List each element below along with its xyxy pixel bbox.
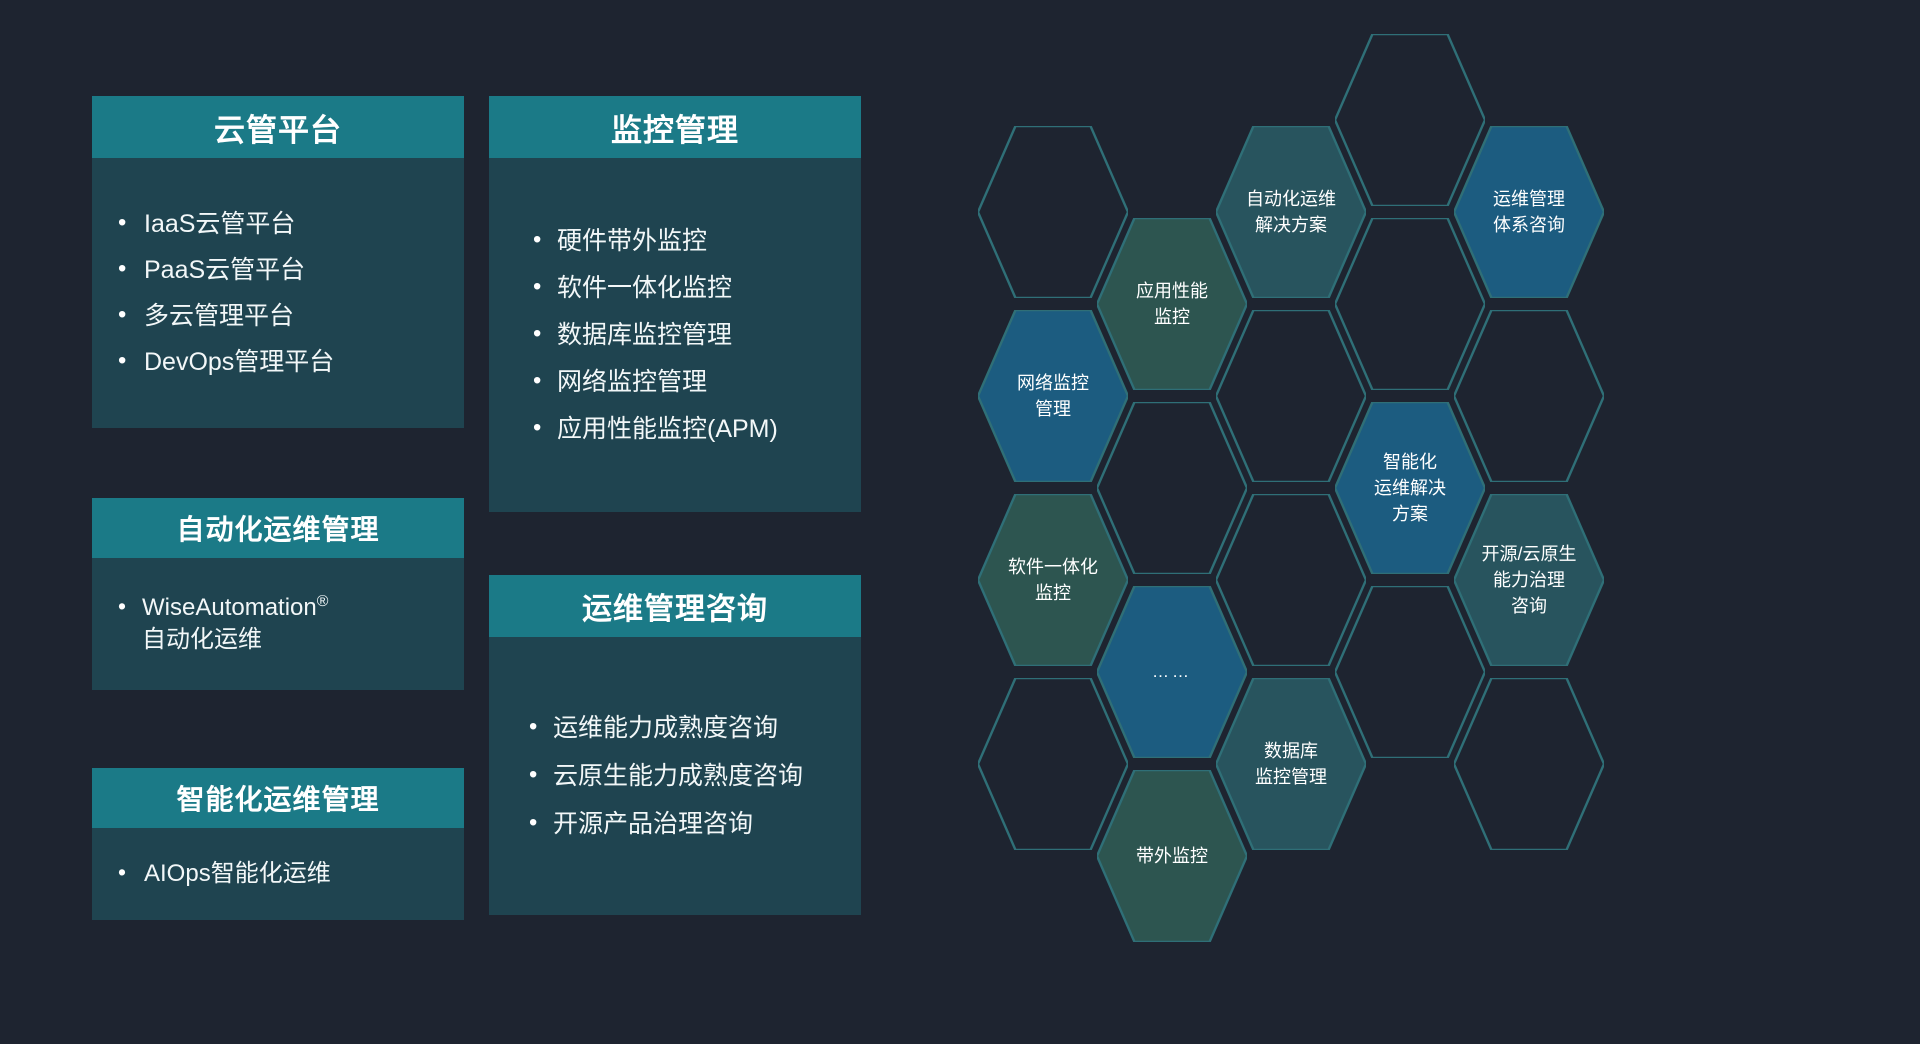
card-body: AIOps智能化运维 (92, 828, 464, 920)
hex-empty-j (1454, 678, 1604, 850)
list-item: IaaS云管平台 (114, 208, 442, 241)
registered-mark-icon: ® (317, 593, 329, 610)
list-item: 云原生能力成熟度咨询 (525, 760, 839, 793)
list-item: AIOps智能化运维 (114, 858, 442, 890)
hexagon-shape (1454, 126, 1604, 298)
card-automation-ops-management[interactable]: 自动化运维管理 WiseAutomation®自动化运维 (92, 498, 464, 690)
card-item-list: IaaS云管平台 PaaS云管平台 多云管理平台 DevOps管理平台 (114, 195, 442, 392)
card-ops-management-consulting[interactable]: 运维管理咨询 运维能力成熟度咨询 云原生能力成熟度咨询 开源产品治理咨询 (489, 575, 861, 915)
card-body: IaaS云管平台 PaaS云管平台 多云管理平台 DevOps管理平台 (92, 158, 464, 428)
card-item-list: AIOps智能化运维 (114, 858, 442, 890)
list-item: 数据库监控管理 (529, 319, 839, 352)
hexagon-shape (1454, 310, 1604, 482)
service-cards-panel: 云管平台 IaaS云管平台 PaaS云管平台 多云管理平台 DevOps管理平台… (0, 0, 900, 1044)
card-body: 硬件带外监控 软件一体化监控 数据库监控管理 网络监控管理 应用性能监控(APM… (489, 158, 861, 512)
hexagon-grid: 网络监控管理软件一体化监控应用性能监控……带外监控自动化运维解决方案数据库监控管… (930, 0, 1920, 1044)
card-intelligent-ops-management[interactable]: 智能化运维管理 AIOps智能化运维 (92, 768, 464, 920)
card-title: 自动化运维管理 (92, 498, 464, 558)
list-item: 多云管理平台 (114, 300, 442, 333)
card-title: 运维管理咨询 (489, 575, 861, 637)
card-title: 监控管理 (489, 96, 861, 158)
list-item: 运维能力成熟度咨询 (525, 712, 839, 745)
card-item-list: 运维能力成熟度咨询 云原生能力成熟度咨询 开源产品治理咨询 (525, 697, 839, 856)
list-item: WiseAutomation®自动化运维 (114, 592, 442, 655)
card-cloud-platform[interactable]: 云管平台 IaaS云管平台 PaaS云管平台 多云管理平台 DevOps管理平台 (92, 96, 464, 428)
list-item: PaaS云管平台 (114, 254, 442, 287)
slide-root: 云管平台 IaaS云管平台 PaaS云管平台 多云管理平台 DevOps管理平台… (0, 0, 1920, 1044)
list-item: 软件一体化监控 (529, 272, 839, 305)
card-item-list: 硬件带外监控 软件一体化监控 数据库监控管理 网络监控管理 应用性能监控(APM… (529, 211, 839, 460)
list-item: 应用性能监控(APM) (529, 413, 839, 446)
hex-empty-i (1454, 310, 1604, 482)
card-title: 智能化运维管理 (92, 768, 464, 828)
hex-ops-system-consult[interactable]: 运维管理体系咨询 (1454, 126, 1604, 298)
hex-opensource-consult[interactable]: 开源/云原生能力治理咨询 (1454, 494, 1604, 666)
list-item: 开源产品治理咨询 (525, 808, 839, 841)
brand-name: WiseAutomation (142, 594, 317, 621)
card-title: 云管平台 (92, 96, 464, 158)
card-body: 运维能力成熟度咨询 云原生能力成熟度咨询 开源产品治理咨询 (489, 637, 861, 915)
list-item: DevOps管理平台 (114, 346, 442, 379)
list-item: 硬件带外监控 (529, 225, 839, 258)
list-item: 网络监控管理 (529, 366, 839, 399)
card-item-list: WiseAutomation®自动化运维 (114, 592, 442, 655)
item-tail: 自动化运维 (142, 626, 262, 653)
card-body: WiseAutomation®自动化运维 (92, 558, 464, 690)
card-monitoring-management[interactable]: 监控管理 硬件带外监控 软件一体化监控 数据库监控管理 网络监控管理 应用性能监… (489, 96, 861, 512)
hexagon-shape (1454, 494, 1604, 666)
hexagon-shape (1454, 678, 1604, 850)
